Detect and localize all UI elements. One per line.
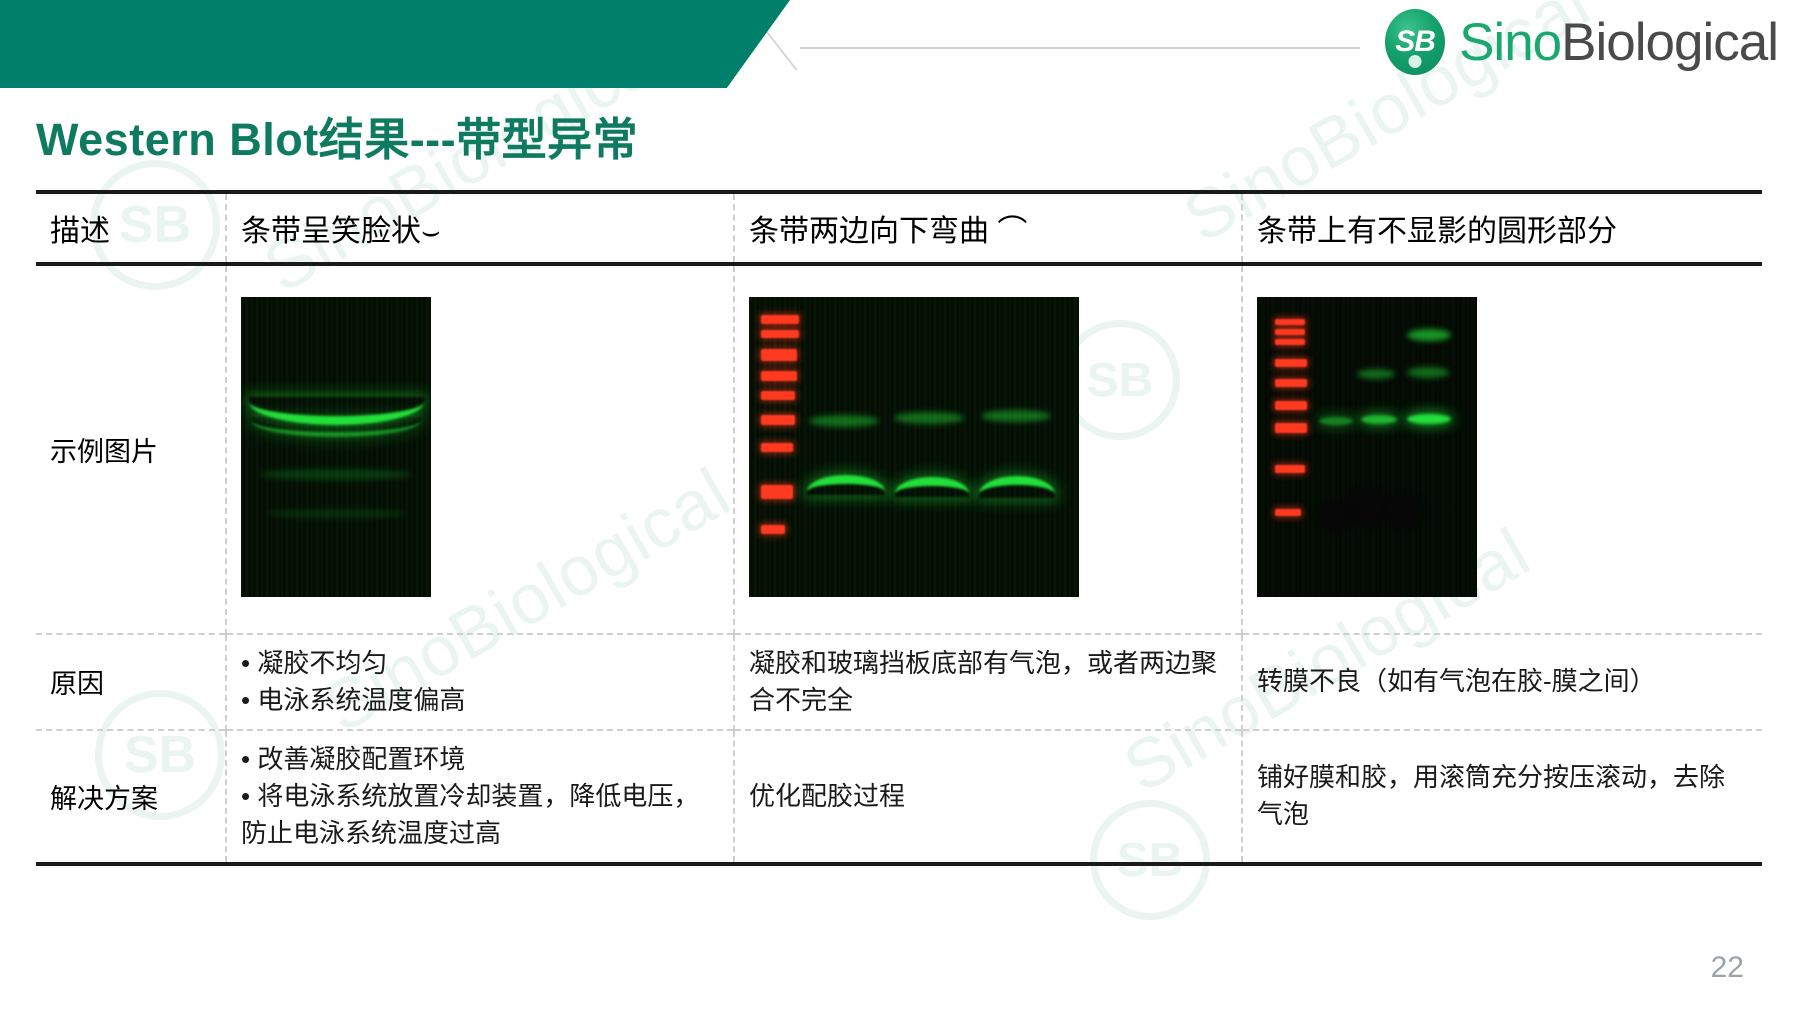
cause-cell-circular-void: 转膜不良（如有气泡在胶-膜之间） <box>1242 634 1762 730</box>
table-header-smile-bands: 条带呈笑脸状⌣ <box>226 192 734 264</box>
logo-wordmark: Sino Biological <box>1459 12 1778 73</box>
band-lower <box>1361 415 1397 424</box>
band-upper-faint <box>809 415 879 427</box>
ladder-tick <box>1275 319 1305 325</box>
row-label-example-image: 示例图片 <box>36 264 226 634</box>
gel-image-cell-downward-curve <box>734 264 1242 634</box>
row-label-solution: 解决方案 <box>36 730 226 864</box>
table-header-row: 描述 条带呈笑脸状⌣ 条带两边向下弯曲 ⌒ 条带上有不显影的圆形部分 <box>36 192 1762 264</box>
ladder-tick <box>761 443 793 452</box>
non-developed-circular-spot <box>1385 493 1425 529</box>
gel-image-cell-smile <box>226 264 734 634</box>
band-faint-lower <box>261 469 411 480</box>
ladder-tick <box>761 330 799 338</box>
table-row: 原因 凝胶不均匀 电泳系统温度偏高 凝胶和玻璃挡板底部有气泡，或者两边聚合不完全… <box>36 634 1762 730</box>
ladder-tick <box>1275 465 1305 473</box>
header-divider-line <box>800 47 1360 49</box>
ladder-tick <box>1275 359 1307 367</box>
gel-background-noise <box>749 297 1079 597</box>
ladder-tick <box>1275 339 1305 345</box>
gel-background-noise <box>241 297 431 597</box>
cause-cell-downward-curve: 凝胶和玻璃挡板底部有气泡，或者两边聚合不完全 <box>734 634 1242 730</box>
band-upper-faint <box>981 410 1051 422</box>
table-head: 描述 条带呈笑脸状⌣ 条带两边向下弯曲 ⌒ 条带上有不显影的圆形部分 <box>36 192 1762 264</box>
solution-cell-smile: 改善凝胶配置环境 将电泳系统放置冷却装置，降低电压，防止电泳系统温度过高 <box>226 730 734 864</box>
sb-logo-icon: SB <box>1385 9 1445 75</box>
ladder-tick <box>1275 401 1307 410</box>
table-row: 解决方案 改善凝胶配置环境 将电泳系统放置冷却装置，降低电压，防止电泳系统温度过… <box>36 730 1762 864</box>
ladder-tick <box>761 315 799 324</box>
non-developed-circular-spot <box>1345 487 1389 527</box>
gel-image-cell-circular-void <box>1242 264 1762 634</box>
cause-bullet: 凝胶不均匀 <box>241 645 719 682</box>
table-header-circular-void: 条带上有不显影的圆形部分 <box>1242 192 1762 264</box>
sb-logo-initials: SB <box>1395 25 1435 59</box>
ladder-tick <box>761 371 797 381</box>
row-label-cause: 原因 <box>36 634 226 730</box>
ladder-tick <box>761 485 793 499</box>
slide: SinoBiological SinoBiological SinoBiolog… <box>0 0 1800 1013</box>
ladder-tick <box>761 349 797 361</box>
band-mid-faint <box>1407 367 1449 378</box>
header-banner <box>0 0 790 88</box>
blot-image-smile-bands <box>241 297 431 597</box>
ladder-tick <box>1275 423 1307 433</box>
table-body: 示例图片 <box>36 264 1762 864</box>
solution-cell-circular-void: 铺好膜和胶，用滚筒充分按压滚动，去除气泡 <box>1242 730 1762 864</box>
band-top-right <box>1407 329 1451 341</box>
page-number: 22 <box>1711 951 1744 985</box>
band-mid-faint <box>1357 369 1395 379</box>
troubleshooting-table-wrapper: 描述 条带呈笑脸状⌣ 条带两边向下弯曲 ⌒ 条带上有不显影的圆形部分 示例图片 <box>36 190 1762 866</box>
ladder-tick <box>1275 329 1305 335</box>
sino-biological-logo: SB Sino Biological <box>1385 8 1778 76</box>
cause-bullet: 电泳系统温度偏高 <box>241 682 719 719</box>
solution-bullet: 改善凝胶配置环境 <box>241 741 719 778</box>
cause-cell-smile: 凝胶不均匀 电泳系统温度偏高 <box>226 634 734 730</box>
ladder-tick <box>1275 379 1307 387</box>
table-header-description: 描述 <box>36 192 226 264</box>
table-row: 示例图片 <box>36 264 1762 634</box>
ladder-tick <box>1275 509 1301 516</box>
ladder-tick <box>761 391 795 400</box>
solution-bullet: 将电泳系统放置冷却装置，降低电压，防止电泳系统温度过高 <box>241 778 719 852</box>
ladder-tick <box>761 415 795 425</box>
header-divider-diagonal <box>764 30 841 70</box>
non-developed-circular-spot <box>1317 502 1351 532</box>
band-upper-faint <box>894 412 964 424</box>
band-lower <box>1407 414 1451 424</box>
table-header-downward-curve: 条带两边向下弯曲 ⌒ <box>734 192 1242 264</box>
page-title: Western Blot结果---带型异常 <box>36 103 638 168</box>
band-lower <box>1319 417 1353 425</box>
solution-cell-downward-curve: 优化配胶过程 <box>734 730 1242 864</box>
logo-word-sino: Sino <box>1459 12 1561 73</box>
logo-word-biological: Biological <box>1561 12 1778 73</box>
blot-image-downward-curve <box>749 297 1079 597</box>
blot-image-circular-void <box>1257 297 1477 597</box>
ladder-tick <box>761 525 785 534</box>
band-faint-lower <box>267 509 407 518</box>
troubleshooting-table: 描述 条带呈笑脸状⌣ 条带两边向下弯曲 ⌒ 条带上有不显影的圆形部分 示例图片 <box>36 190 1762 866</box>
